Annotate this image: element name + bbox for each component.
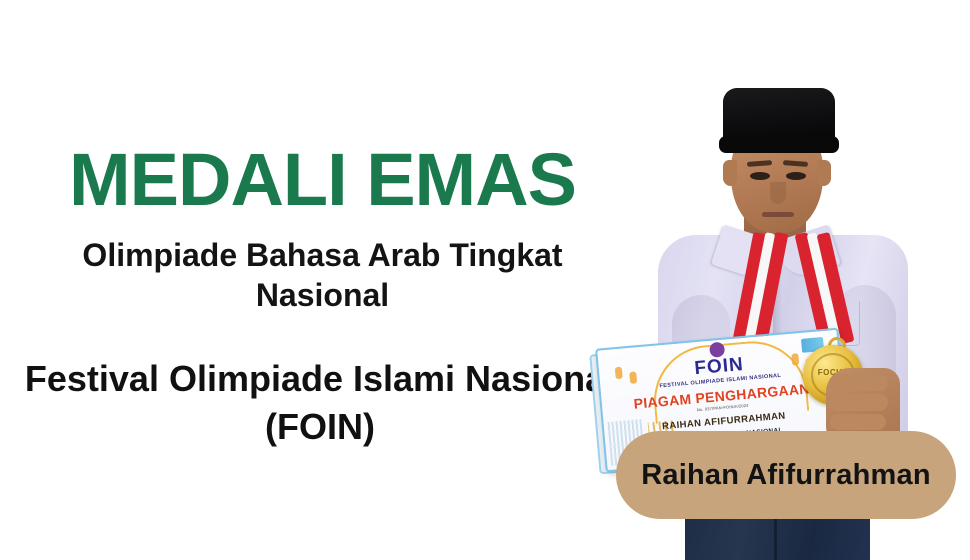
cap-brim [719, 136, 839, 153]
nose [770, 182, 786, 204]
recipient-name: Raihan Afifurrahman [641, 459, 931, 492]
subtitle-competition: Olimpiade Bahasa Arab Tingkat Nasional [25, 235, 620, 315]
cap-highlight [873, 184, 913, 194]
mouth [762, 212, 794, 217]
text-column: MEDALI EMAS Olimpiade Bahasa Arab Tingka… [0, 0, 645, 560]
page-title: MEDALI EMAS [0, 143, 645, 217]
ear-left [723, 160, 737, 186]
recipient-name-badge: Raihan Afifurrahman [616, 431, 956, 519]
ear-right [817, 160, 831, 186]
finger [830, 374, 888, 391]
award-poster: MEDALI EMAS Olimpiade Bahasa Arab Tingka… [0, 0, 970, 560]
eye-right [786, 172, 806, 180]
finger [830, 414, 886, 430]
event-name: Festival Olimpiade Islami Nasional (FOIN… [20, 355, 620, 451]
finger [828, 394, 888, 411]
eye-left [750, 172, 770, 180]
